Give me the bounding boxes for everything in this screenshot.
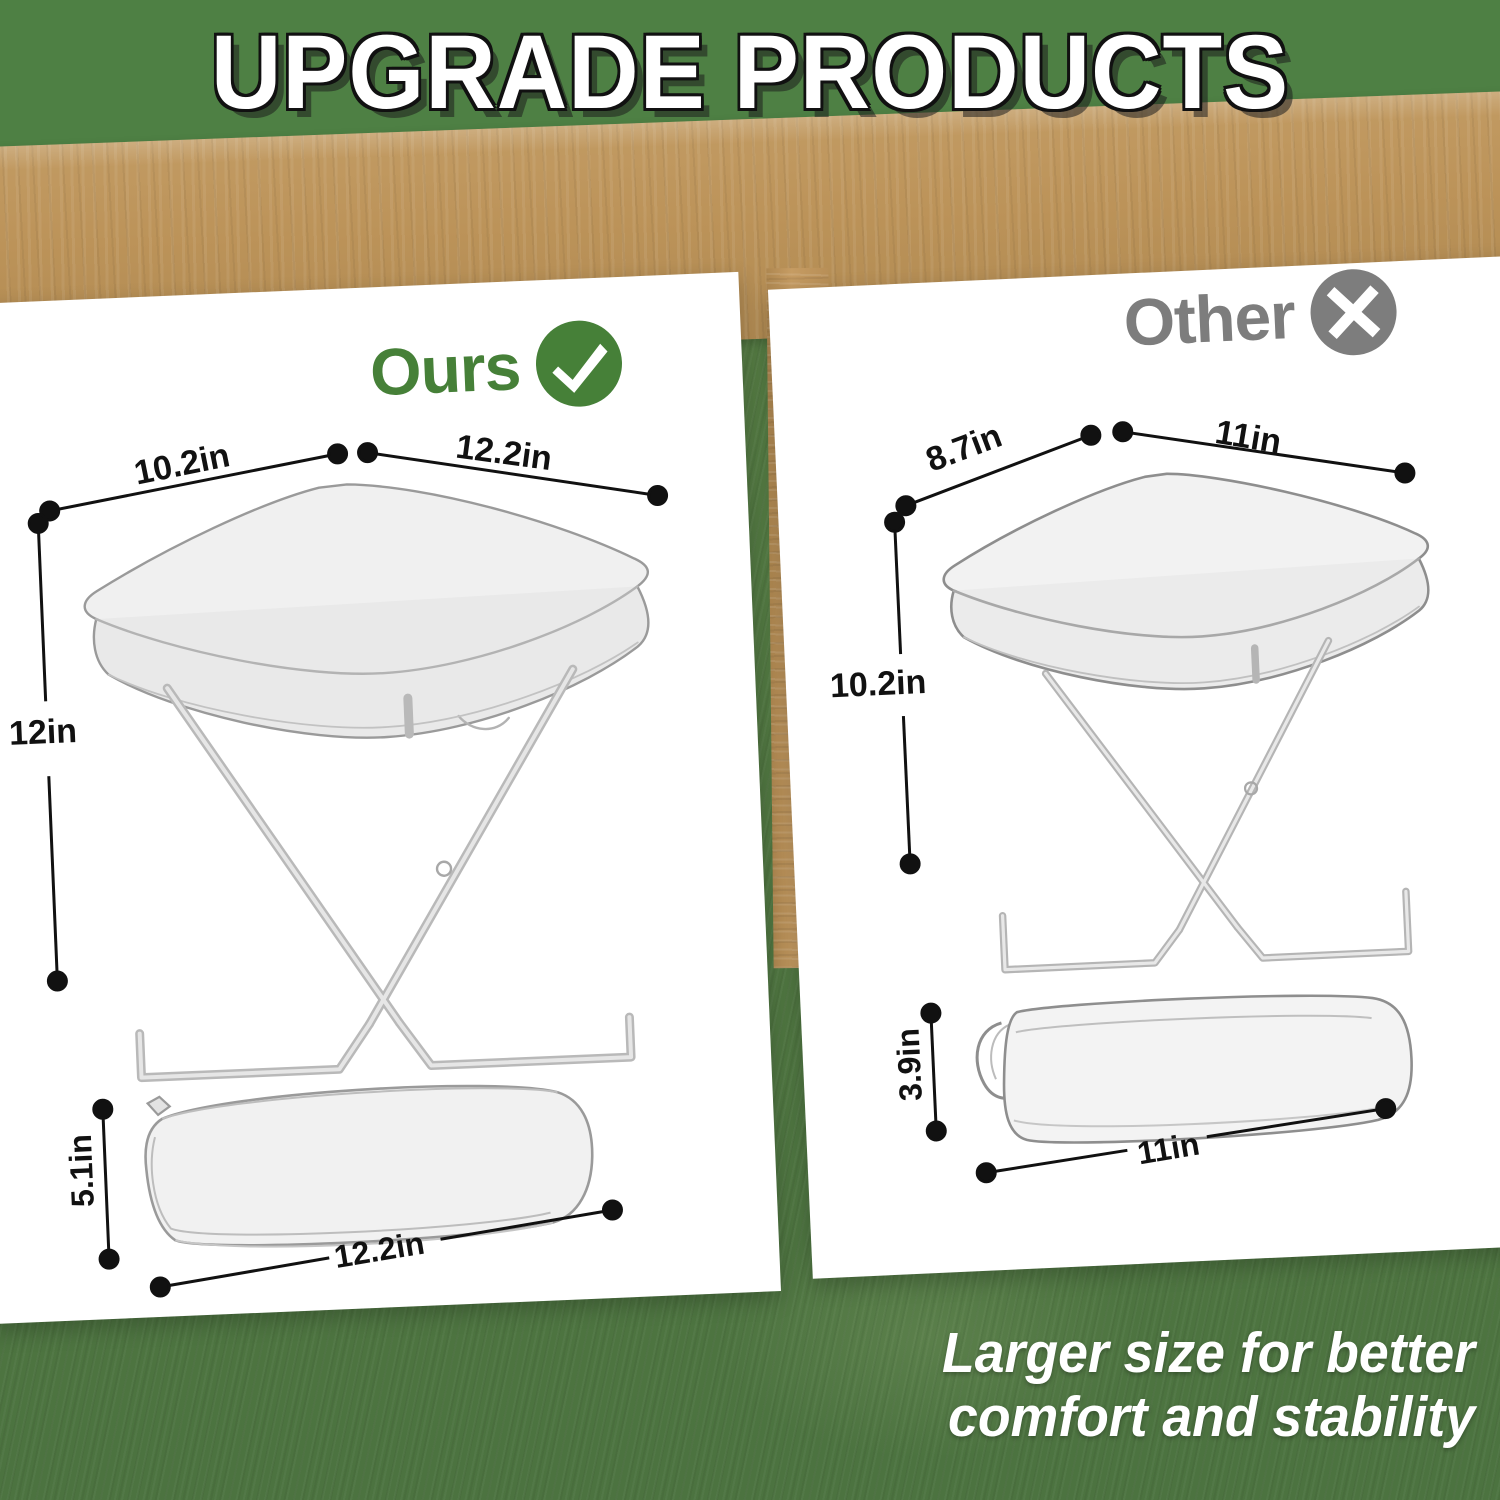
panel-ours: Ours	[0, 272, 781, 1324]
page-title: UPGRADE PRODUCTS	[53, 18, 1448, 128]
bottom-caption: Larger size for better comfort and stabi…	[775, 1322, 1475, 1450]
caption-line-1: Larger size for better	[775, 1322, 1475, 1386]
caption-line-2: comfort and stability	[775, 1386, 1475, 1450]
ours-bag-height-label: 5.1in	[62, 1133, 102, 1207]
infographic-stage: UPGRADE PRODUCTS Ours	[0, 0, 1500, 1500]
other-bag-height-label: 3.9in	[890, 1027, 930, 1102]
other-bag-dimension-lines	[768, 255, 1500, 1278]
ours-bag-dimension-lines	[0, 272, 781, 1324]
panel-other: Other	[768, 255, 1500, 1278]
